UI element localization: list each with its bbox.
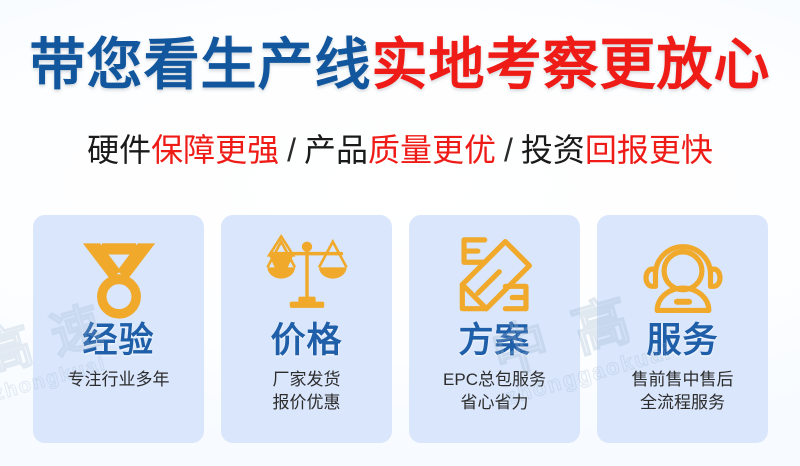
feature-card-row: 经验 专注行业多年 bbox=[33, 215, 768, 443]
promo-banner: 带您看生产线实地考察更放心 硬件保障更强/产品质量更优/投资回报更快 经验 专注… bbox=[0, 0, 800, 466]
feature-card-desc-line: 报价优惠 bbox=[273, 392, 341, 415]
subheadline-segment-3-red: 回报更快 bbox=[585, 132, 713, 168]
feature-card-desc-line: 售前售中售后 bbox=[632, 369, 734, 392]
subheadline-segment-3-dark: 投资 bbox=[521, 132, 585, 168]
feature-card-desc: 专注行业多年 bbox=[68, 369, 170, 392]
feature-card-title: 经验 bbox=[82, 321, 154, 361]
feature-card-desc-line: EPC总包服务 bbox=[443, 369, 546, 392]
subheadline-separator-2: / bbox=[496, 132, 521, 168]
feature-card-desc: 售前售中售后 全流程服务 bbox=[632, 369, 734, 415]
subheadline: 硬件保障更强/产品质量更优/投资回报更快 bbox=[0, 131, 800, 169]
feature-card-price[interactable]: 价格 厂家发货 报价优惠 bbox=[221, 215, 392, 443]
feature-card-desc: EPC总包服务 省心省力 bbox=[443, 369, 546, 415]
feature-card-desc: 厂家发货 报价优惠 bbox=[273, 369, 341, 415]
headline-red-text: 实地考察更放心 bbox=[372, 33, 771, 96]
medal-icon bbox=[76, 233, 162, 319]
subheadline-segment-1-red: 保障更强 bbox=[151, 132, 279, 168]
feature-card-desc-line: 全流程服务 bbox=[632, 392, 734, 415]
subheadline-segment-2-red: 质量更优 bbox=[368, 132, 496, 168]
headline-blue-text: 带您看生产线 bbox=[30, 33, 372, 96]
feature-card-title: 服务 bbox=[646, 321, 718, 361]
subheadline-segment-2-dark: 产品 bbox=[304, 132, 368, 168]
subheadline-separator-1: / bbox=[279, 132, 304, 168]
feature-card-desc-line: 专注行业多年 bbox=[68, 369, 170, 392]
feature-card-title: 方案 bbox=[458, 321, 530, 361]
subheadline-segment-1-dark: 硬件 bbox=[87, 132, 151, 168]
feature-card-desc-line: 省心省力 bbox=[443, 392, 546, 415]
feature-card-title: 价格 bbox=[270, 321, 342, 361]
feature-card-experience[interactable]: 经验 专注行业多年 bbox=[33, 215, 204, 443]
pencil-ruler-icon bbox=[452, 233, 538, 319]
feature-card-desc-line: 厂家发货 bbox=[273, 369, 341, 392]
headline: 带您看生产线实地考察更放心 bbox=[0, 36, 800, 95]
balance-scale-icon bbox=[264, 233, 350, 319]
feature-card-solution[interactable]: 方案 EPC总包服务 省心省力 bbox=[409, 215, 580, 443]
feature-card-service[interactable]: 服务 售前售中售后 全流程服务 bbox=[597, 215, 768, 443]
headset-support-icon bbox=[640, 233, 726, 319]
